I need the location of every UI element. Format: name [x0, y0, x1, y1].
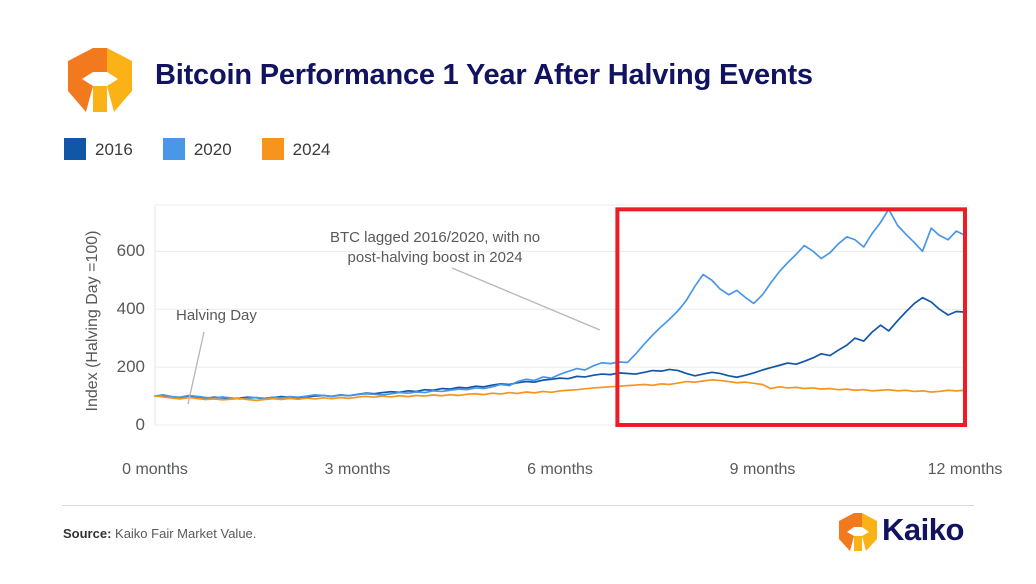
data-series-layer	[155, 209, 965, 400]
axis-lines	[155, 205, 965, 425]
footer-divider	[62, 505, 974, 506]
annotation-leader-lines	[188, 268, 600, 404]
annotation-halving-day: Halving Day	[176, 306, 257, 326]
annotation-leader-line	[452, 268, 600, 330]
source-text: Kaiko Fair Market Value.	[111, 526, 256, 541]
series-line-2020	[155, 209, 965, 399]
annotation-btc-lagged-line2: post-halving boost in 2024	[330, 248, 540, 268]
source-label: Source:	[63, 526, 111, 541]
source-note: Source: Kaiko Fair Market Value.	[63, 526, 256, 541]
line-chart: Index (Halving Day =100) 6004002000 0 mo…	[0, 0, 1036, 500]
slide-canvas: Bitcoin Performance 1 Year After Halving…	[0, 0, 1036, 584]
annotation-btc-lagged: BTC lagged 2016/2020, with no post-halvi…	[330, 228, 540, 269]
annotation-btc-lagged-line1: BTC lagged 2016/2020, with no	[330, 228, 540, 248]
annotation-leader-line	[188, 332, 204, 404]
footer-wordmark: Kaiko	[882, 514, 964, 545]
